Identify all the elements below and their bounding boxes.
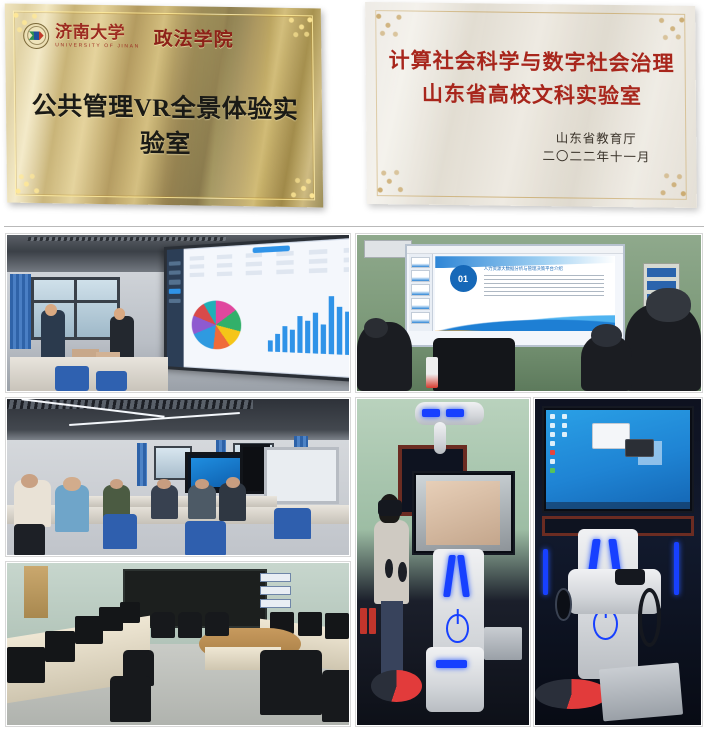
monitor: [7, 647, 45, 683]
plaque-title-line-2: 山东省高校文科实验室: [386, 77, 678, 113]
slide-thumbnail[interactable]: [411, 270, 430, 282]
scene: [7, 399, 349, 555]
university-name-block: 济南大学 UNIVERSITY OF JINAN: [55, 23, 140, 49]
vr-platform-ring: [535, 679, 608, 708]
slide-body-text: [484, 275, 604, 298]
document-page: 济南大学 UNIVERSITY OF JINAN 政法学院 公共管理VR全景体验…: [0, 0, 708, 731]
section-divider: [4, 226, 704, 227]
slide-title: 人力资源大数据分析与管理决策平台介绍: [484, 266, 606, 273]
scene: [535, 399, 701, 725]
plaque-title: 计算社会科学与数字社会治理 山东省高校文科实验室: [385, 44, 678, 113]
water-bottle: [426, 357, 438, 388]
chair: [55, 366, 89, 391]
person-head: [63, 477, 80, 491]
vr-controller: [398, 562, 407, 582]
person-legs: [381, 601, 403, 679]
pie-chart: [192, 301, 242, 351]
fire-extinguisher: [369, 608, 376, 634]
dashboard-screen: [167, 235, 350, 381]
person-head: [226, 477, 240, 488]
desktop-monitor[interactable]: [542, 406, 695, 514]
photo-computer-lab: [6, 562, 350, 726]
curtain: [10, 274, 31, 349]
chair: [14, 524, 45, 555]
slide-thumbnail[interactable]: [411, 298, 430, 310]
window-mullion: [74, 280, 77, 336]
panel-button[interactable]: [647, 268, 676, 277]
brand-logo-icon: [446, 614, 468, 643]
chair: [205, 612, 229, 636]
photo-vr-headset-user: [356, 398, 530, 726]
dashboard-filter-row[interactable]: [190, 267, 350, 278]
chair: [103, 514, 137, 548]
slide-thumbnail[interactable]: [411, 312, 430, 324]
fire-extinguisher: [360, 608, 367, 634]
person-head: [195, 479, 209, 490]
university-name-en: UNIVERSITY OF JINAN: [55, 42, 140, 49]
desk-row: [10, 357, 167, 391]
photo-vr-station-equipment: [534, 398, 702, 726]
notification-popup[interactable]: [625, 439, 654, 457]
chair: [110, 676, 151, 721]
plaque-shandong-provincial-lab: 计算社会科学与数字社会治理 山东省高校文科实验室 山东省教育厅 二〇二二年十一月: [358, 0, 708, 222]
vr-platform-ring: [371, 670, 423, 703]
person-head: [45, 304, 57, 316]
vr-controller: [385, 559, 394, 579]
chair: [185, 521, 226, 555]
plaque-title: 公共管理VR全景体验实验室: [20, 86, 311, 163]
person-head: [21, 474, 38, 488]
slide-thumbnail[interactable]: [411, 284, 430, 296]
scene: [7, 235, 349, 391]
chair: [433, 338, 516, 391]
headphones: [638, 588, 661, 647]
photo-classroom-demo-dashboard: [6, 234, 350, 392]
interactive-display-dashboard[interactable]: [164, 234, 350, 385]
monitor: [298, 612, 322, 636]
person-audience: [151, 485, 178, 519]
sidebar-item-active[interactable]: [169, 289, 181, 294]
bar-chart: [266, 288, 350, 357]
university-name-cn: 济南大学: [55, 23, 140, 41]
chair: [151, 612, 175, 638]
gantry-arm: [434, 422, 446, 455]
person-audience: [188, 485, 215, 519]
dashboard-sidebar[interactable]: [167, 249, 184, 367]
wall-sign: [260, 573, 291, 583]
led-accent: [436, 660, 467, 668]
scene: [7, 563, 349, 725]
led-accent: [422, 409, 439, 417]
scene: 01 人力资源大数据分析与管理决策平台介绍: [357, 235, 701, 391]
led-accent: [543, 549, 548, 595]
seal-ring: [27, 26, 46, 45]
sidebar-item[interactable]: [169, 271, 181, 276]
powerpoint-ribbon[interactable]: [407, 246, 623, 254]
sidebar-item[interactable]: [169, 261, 181, 266]
windows-desktop[interactable]: [546, 410, 691, 510]
chair: [322, 670, 350, 722]
monitor: [45, 631, 76, 662]
plaque-header: 济南大学 UNIVERSITY OF JINAN 政法学院: [23, 22, 234, 52]
slide-thumbnail-pane[interactable]: [409, 254, 433, 331]
plaque-footer: 山东省教育厅 二〇二二年十一月: [542, 129, 650, 168]
gold-plate: 济南大学 UNIVERSITY OF JINAN 政法学院 公共管理VR全景体验…: [5, 3, 323, 207]
curtain: [24, 566, 48, 618]
person-audience: [219, 483, 246, 520]
chair: [178, 612, 202, 638]
person-head: [591, 324, 622, 347]
laptop[interactable]: [484, 627, 522, 660]
windows-taskbar[interactable]: [546, 502, 691, 509]
person-head: [364, 318, 388, 338]
chair: [96, 371, 127, 391]
monitor: [325, 613, 349, 639]
led-accent: [446, 409, 463, 417]
plaque-title-line-1: 计算社会科学与数字社会治理: [385, 44, 677, 80]
university-seal-icon: [23, 22, 49, 48]
chair: [260, 650, 322, 715]
laptop[interactable]: [599, 663, 683, 722]
port-hole: [555, 588, 572, 621]
plaque-row: 济南大学 UNIVERSITY OF JINAN 政法学院 公共管理VR全景体验…: [0, 0, 708, 222]
plaque-date: 二〇二二年十一月: [542, 147, 650, 167]
monitor: [120, 602, 141, 623]
photo-grid: 01 人力资源大数据分析与管理决策平台介绍: [6, 234, 702, 726]
window-mullion: [34, 300, 117, 303]
vr-headset-on-shelf: [615, 569, 645, 585]
ceiling-grille: [27, 237, 226, 241]
chair: [274, 508, 312, 539]
curtain: [137, 443, 147, 487]
college-name-cn: 政法学院: [153, 24, 233, 52]
scene: [357, 399, 529, 725]
sidebar-item[interactable]: [169, 299, 181, 304]
vr-preview-monitor[interactable]: [412, 471, 515, 556]
led-accent: [674, 542, 679, 594]
person-head: [646, 288, 691, 322]
photo-ppt-presentation-meeting: 01 人力资源大数据分析与管理决策平台介绍: [356, 234, 702, 392]
silver-plate: 计算社会科学与数字社会治理 山东省高校文科实验室 山东省教育厅 二〇二二年十一月: [365, 2, 697, 208]
plaque-issuer: 山东省教育厅: [542, 129, 650, 149]
vr-scene-preview: [426, 481, 500, 545]
wall-sign: [260, 599, 291, 609]
wall-sign: [260, 586, 291, 596]
plaque-jinan-university-vr-lab: 济南大学 UNIVERSITY OF JINAN 政法学院 公共管理VR全景体验…: [0, 0, 348, 222]
slide-number-badge: 01: [450, 265, 477, 292]
vr-console-base: [426, 647, 484, 712]
dialog-window[interactable]: [592, 423, 630, 449]
current-slide: 01 人力资源大数据分析与管理决策平台介绍: [435, 256, 614, 331]
slide-thumbnail[interactable]: [411, 257, 430, 269]
vr-headset: [378, 500, 402, 516]
sidebar-item[interactable]: [169, 280, 181, 285]
person-audience: [55, 485, 89, 532]
photo-seminar-room-audience: [6, 398, 350, 556]
monitor-screen: [416, 475, 511, 552]
